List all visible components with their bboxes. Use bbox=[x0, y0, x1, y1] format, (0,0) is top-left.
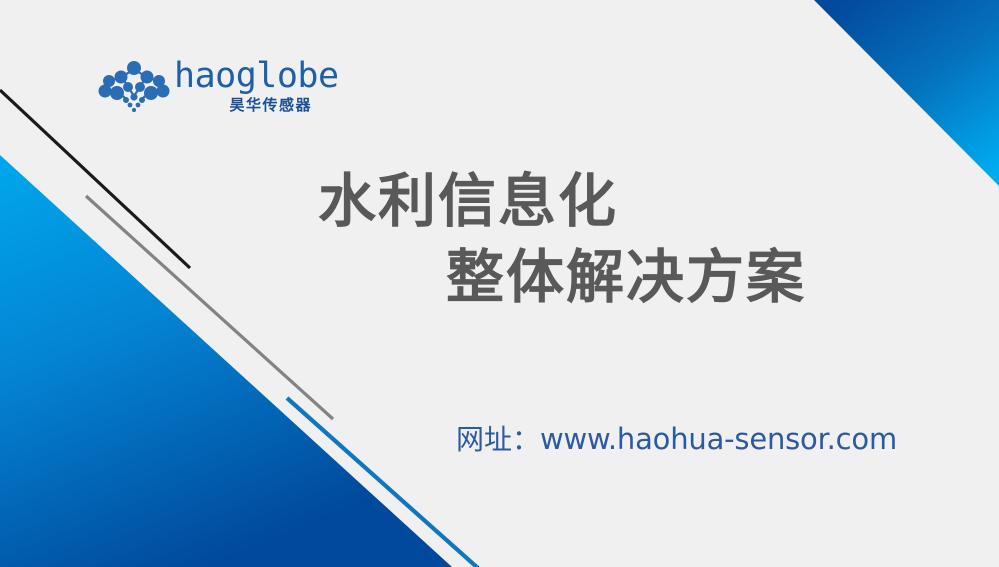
slide-title: 水利信息化 整体解决方案 bbox=[318, 163, 878, 315]
blue-diagonal-line bbox=[287, 398, 479, 567]
company-logo: haoglobe 昊华传感器 bbox=[98, 56, 313, 120]
top-right-blue-triangle bbox=[814, 0, 999, 186]
website-line: 网址：www.haohua-sensor.com bbox=[456, 418, 897, 458]
haoglobe-network-dots-icon bbox=[98, 58, 170, 114]
website-label: 网址： bbox=[456, 423, 540, 456]
title-line-1: 水利信息化 bbox=[318, 163, 878, 239]
gray-diagonal-line bbox=[86, 196, 333, 419]
title-line-2: 整体解决方案 bbox=[318, 239, 878, 315]
logo-wordmark-text: haoglobe bbox=[174, 56, 314, 96]
website-url[interactable]: www.haohua-sensor.com bbox=[540, 422, 897, 456]
presentation-title-slide: haoglobe 昊华传感器 水利信息化 整体解决方案 网址：www.haohu… bbox=[0, 0, 999, 567]
logo-wordmark-group: haoglobe 昊华传感器 bbox=[174, 56, 314, 114]
logo-sub-wordmark-text: 昊华传感器 bbox=[174, 96, 314, 114]
